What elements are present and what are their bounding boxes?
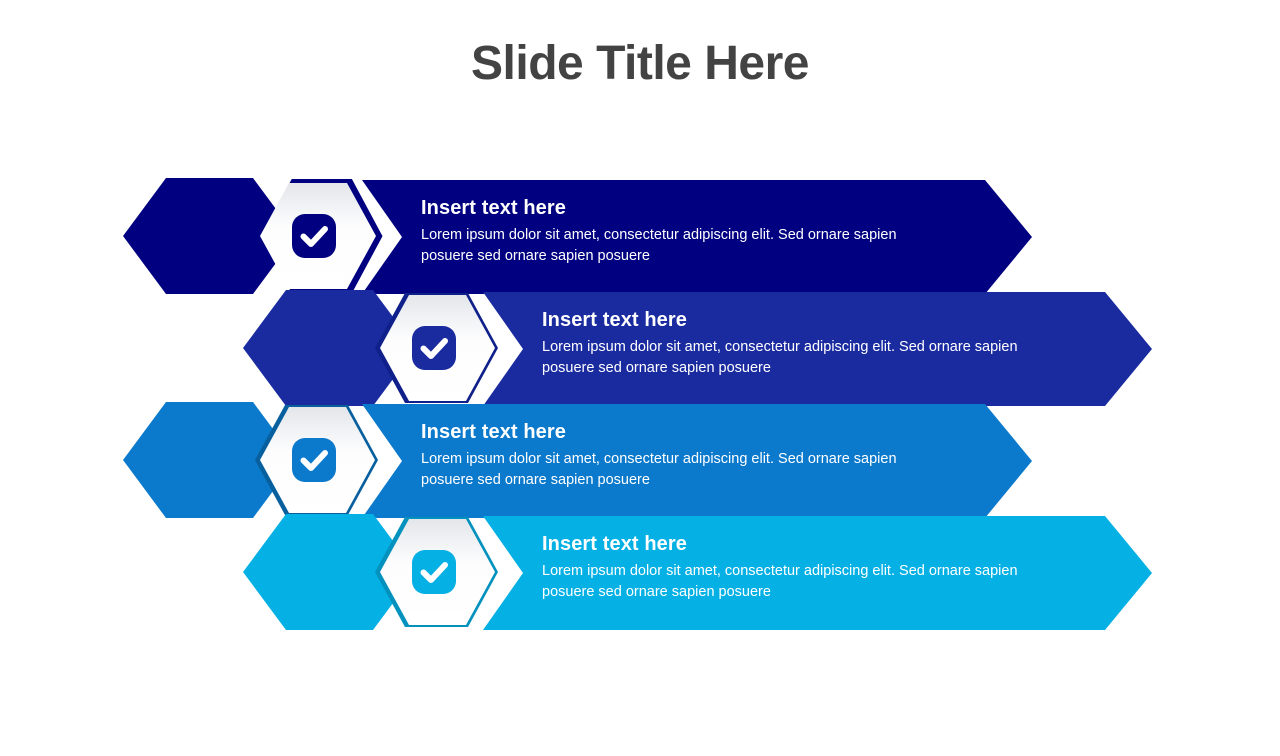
step-heading-02: Insert text here [542,309,1022,331]
check-icon [292,214,336,258]
step-text-block-02: Insert text here Lorem ipsum dolor sit a… [542,309,1022,379]
step-heading-01: Insert text here [421,197,901,219]
step-body-04: Lorem ipsum dolor sit amet, consectetur … [542,561,1022,603]
step-row-04[interactable]: 04 Insert text here Lorem ipsum dolor si… [0,508,1280,668]
step-body-03: Lorem ipsum dolor sit amet, consectetur … [421,449,901,491]
step-text-block-04: Insert text here Lorem ipsum dolor sit a… [542,533,1022,603]
step-body-01: Lorem ipsum dolor sit amet, consectetur … [421,225,901,267]
check-icon [412,326,456,370]
step-body-02: Lorem ipsum dolor sit amet, consectetur … [542,337,1022,379]
step-text-block-03: Insert text here Lorem ipsum dolor sit a… [421,421,901,491]
step-number-label-04: 04 [265,730,375,756]
step-heading-03: Insert text here [421,421,901,443]
step-heading-04: Insert text here [542,533,1022,555]
check-icon [292,438,336,482]
hexagon-steps-diagram: 01 Insert text here Lorem ipsum dolor si… [0,0,1280,720]
step-text-block-01: Insert text here Lorem ipsum dolor sit a… [421,197,901,267]
check-icon [412,550,456,594]
slide-canvas: Slide Title Here [0,0,1280,720]
